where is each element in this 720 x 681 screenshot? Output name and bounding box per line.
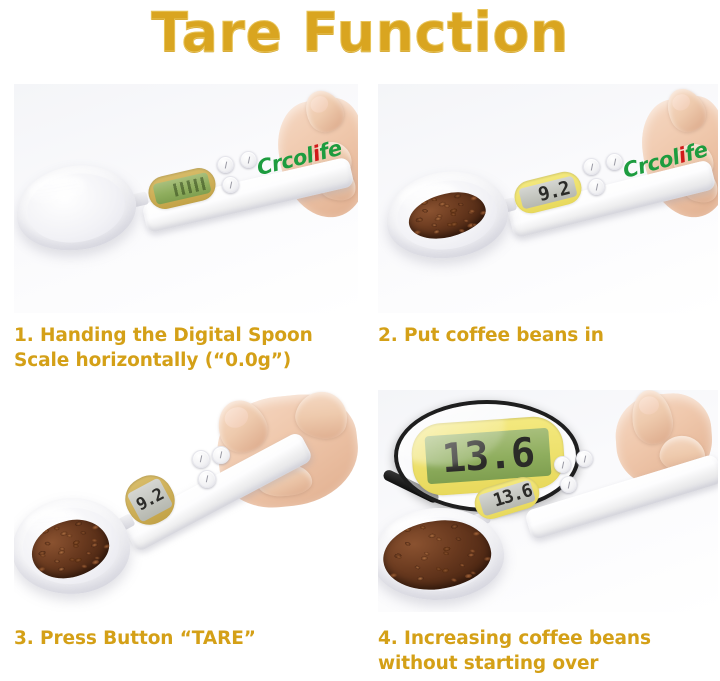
coffee-beans [379,515,495,596]
lcd-value-4: 13.6 [491,480,535,512]
fingernail [222,404,252,432]
lcd-screen-3: 9.2 [126,477,174,523]
step-card-2: 9.2 Crcolife 2. Put coffee beans in [378,84,718,348]
scale-button-tare[interactable] [222,176,239,193]
scale-button-on-off[interactable] [192,450,210,468]
step-card-4: 13.6 13.6 [378,390,718,676]
spoon-bowl [14,157,142,259]
lcd-empty-segments [172,177,207,197]
step-photo-4: 13.6 13.6 [378,390,718,612]
scale-button-tare[interactable] [198,470,216,488]
spoon-bowl [381,164,514,266]
scale-button-on-off[interactable] [583,158,600,175]
scale-button-mode[interactable] [212,446,230,464]
step-caption-2: 2. Put coffee beans in [378,323,718,348]
step-photo-3: 9.2 [14,390,358,612]
fingernail [670,91,693,113]
scale-button-mode[interactable] [576,450,593,467]
scale-button-on-off[interactable] [217,156,234,173]
lcd-screen-1 [152,172,211,206]
lcd-value-3: 9.2 [133,485,167,516]
steps-grid: Crcolife 1. Handing the Digital Spoon Sc… [0,84,720,681]
fingernail [638,395,661,416]
scale-button-tare[interactable] [560,476,577,493]
step-card-3: 9.2 3. Press Button “TARE” [14,390,358,651]
step-caption-3: 3. Press Button “TARE” [14,626,358,651]
fingernail [308,93,331,116]
step-caption-1: 1. Handing the Digital Spoon Scale horiz… [14,323,358,373]
step-photo-1: Crcolife [14,84,358,313]
page-title: Tare Function [0,2,720,64]
scale-button-on-off[interactable] [554,456,571,473]
spoon-bowl [14,494,133,598]
lcd-value-2: 9.2 [536,177,572,206]
step-photo-2: 9.2 Crcolife [378,84,718,313]
step-caption-4: 4. Increasing coffee beans without start… [378,626,718,676]
step-card-1: Crcolife 1. Handing the Digital Spoon Sc… [14,84,358,373]
scale-button-tare[interactable] [588,178,605,195]
spoon-bowl [378,505,506,604]
